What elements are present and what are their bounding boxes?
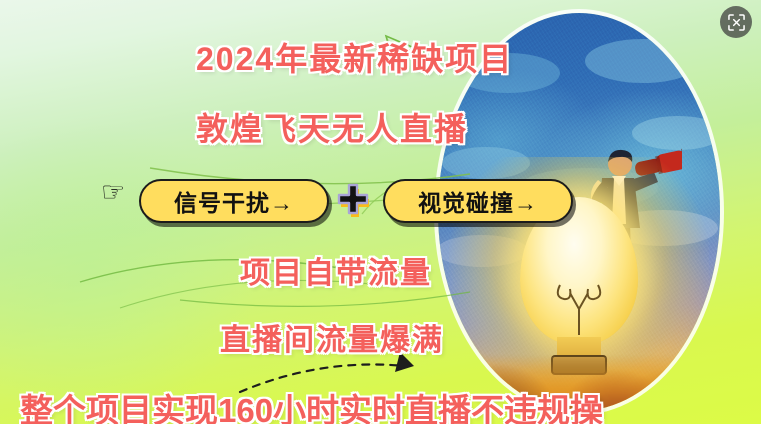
background-glow <box>0 120 260 420</box>
plus-icon <box>336 180 374 218</box>
pointing-hand-icon: ☞ <box>101 179 125 206</box>
badge-signal-interference[interactable]: 信号干扰→ <box>139 179 329 223</box>
headline-line-3: 项目自带流量 <box>240 248 432 292</box>
headline-line-2: 敦煌飞天无人直播 <box>196 104 468 150</box>
scan-icon <box>728 14 745 31</box>
scan-button[interactable] <box>720 6 752 38</box>
bulb-filament-icon <box>550 279 608 337</box>
poster-canvas: 2024年最新稀缺项目 敦煌飞天无人直播 项目自带流量 直播间流量爆满 整个项目… <box>0 0 761 424</box>
headline-line-1: 2024年最新稀缺项目 <box>196 34 513 80</box>
headline-line-4: 直播间流量爆满 <box>220 315 444 359</box>
headline-line-5: 整个项目实现160小时实时直播不违规操 <box>20 384 603 424</box>
badge-visual-collision[interactable]: 视觉碰撞→ <box>383 179 573 223</box>
